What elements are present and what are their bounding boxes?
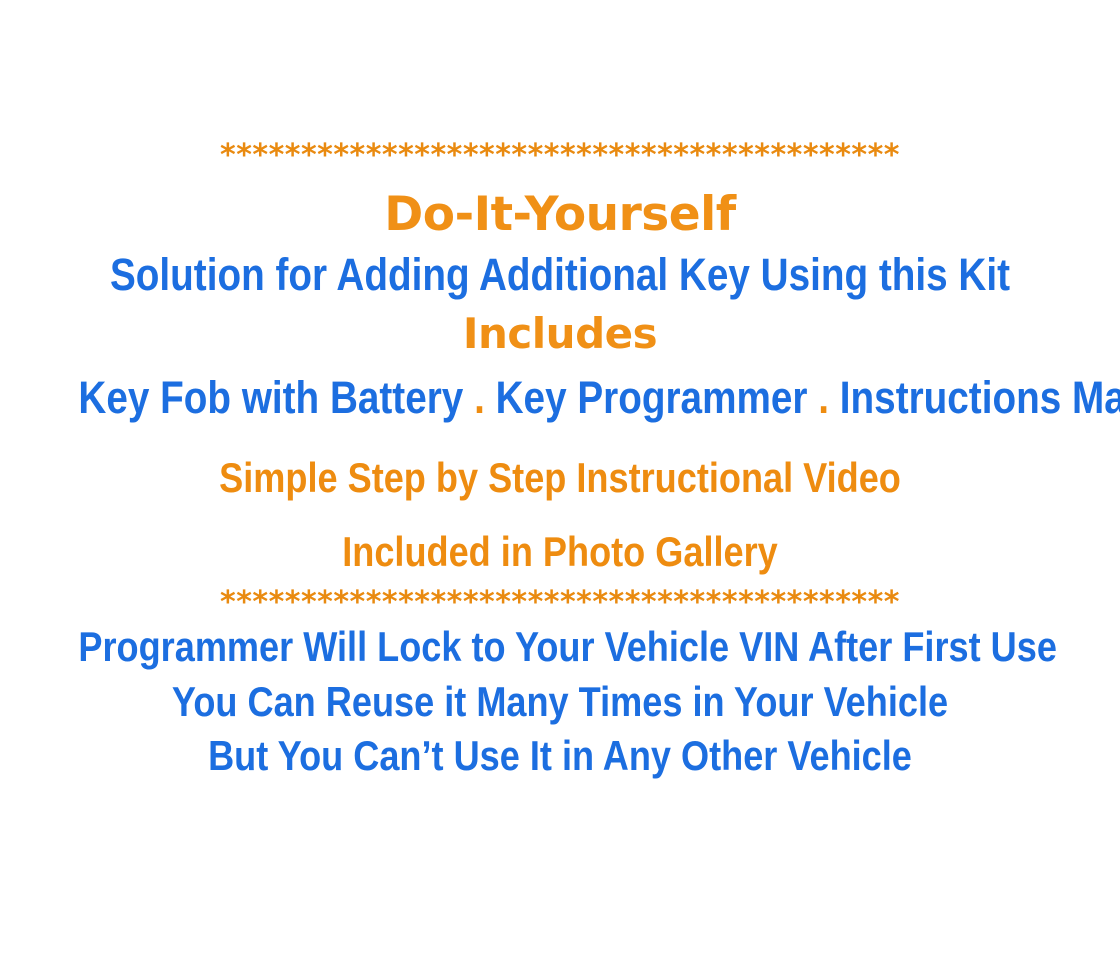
photo-gallery-line: Included in Photo Gallery bbox=[78, 531, 1041, 573]
headline-do-it-yourself: Do-It-Yourself bbox=[0, 191, 1120, 238]
product-info-graphic: ****************************************… bbox=[0, 0, 1120, 956]
notice-reuse: You Can Reuse it Many Times in Your Vehi… bbox=[78, 681, 1041, 723]
kit-contents-list: Key Fob with Battery . Key Programmer . … bbox=[78, 375, 1041, 420]
divider-asterisks-top: ****************************************… bbox=[0, 141, 1120, 171]
kit-contents-item-3: Instructions Manual bbox=[840, 372, 1120, 423]
instructional-video-line: Simple Step by Step Instructional Video bbox=[78, 457, 1041, 499]
includes-label: Includes bbox=[0, 313, 1120, 355]
kit-contents-item-2: Key Programmer bbox=[496, 372, 808, 423]
subheadline-solution: Solution for Adding Additional Key Using… bbox=[78, 252, 1041, 297]
notice-no-other-vehicle: But You Can’t Use It in Any Other Vehicl… bbox=[78, 735, 1041, 777]
kit-contents-separator-1: . bbox=[474, 372, 485, 423]
notice-vin-lock: Programmer Will Lock to Your Vehicle VIN… bbox=[78, 626, 1041, 668]
kit-contents-item-1: Key Fob with Battery bbox=[78, 372, 463, 423]
kit-contents-separator-2: . bbox=[818, 372, 829, 423]
divider-asterisks-bottom: ****************************************… bbox=[0, 588, 1120, 618]
